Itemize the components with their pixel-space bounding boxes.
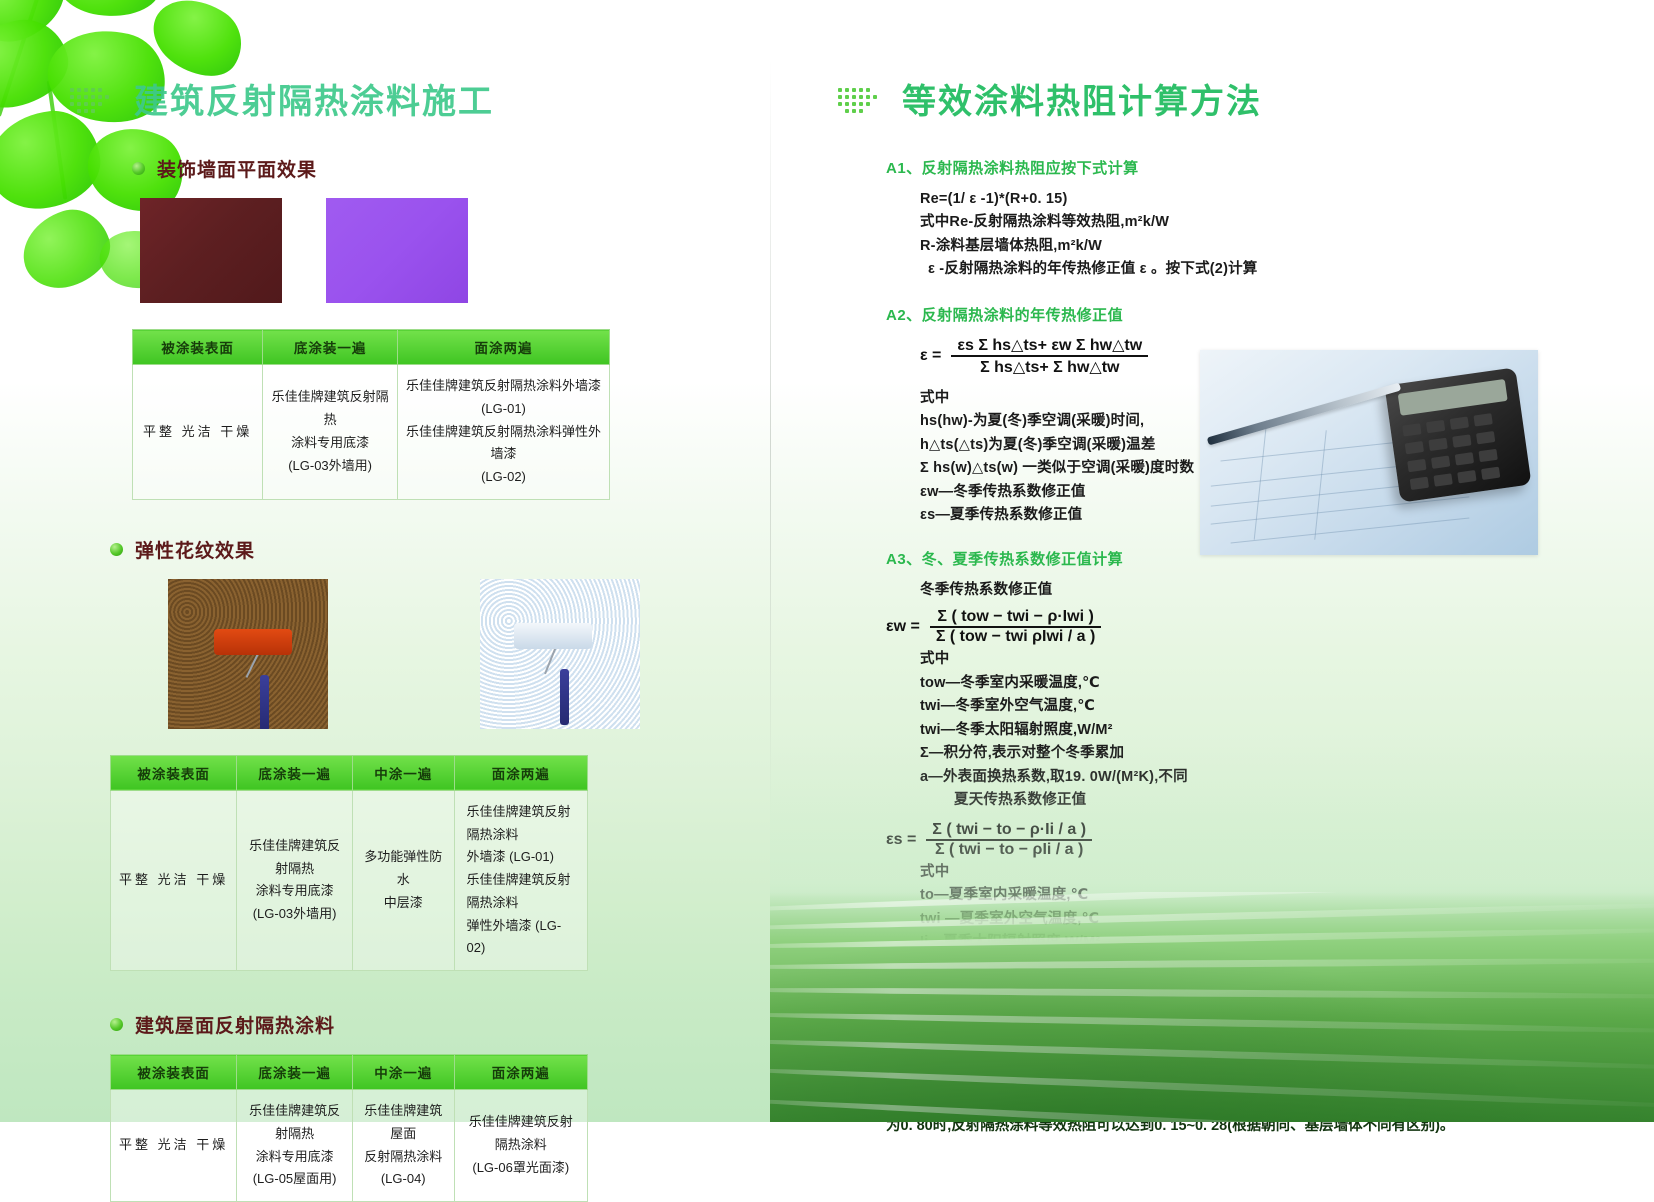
white-textured-roller-photo bbox=[480, 579, 640, 729]
topcoat-line-3: 乐佳佳牌建筑反射隔热涂料 bbox=[467, 869, 579, 915]
cell-surface: 平整 光洁 干燥 bbox=[133, 365, 263, 500]
cell-primer: 乐佳佳牌建筑反射隔热 涂料专用底漆 (LG-03外墙用) bbox=[237, 790, 353, 970]
maroon-paint-swatch bbox=[140, 198, 282, 303]
topcoat-line-1: 乐佳佳牌建筑反射隔热涂料外墙漆 bbox=[406, 375, 601, 398]
primer-line-1: 乐佳佳牌建筑反射隔热 bbox=[245, 835, 344, 881]
section1-heading: 装饰墙面平面效果 bbox=[157, 155, 317, 182]
th-surface: 被涂装表面 bbox=[111, 1055, 237, 1090]
a3-winter-label: 冬季传热系数修正值 bbox=[920, 579, 1558, 602]
section3-heading-row: 建筑屋面反射隔热涂料 bbox=[110, 1011, 730, 1038]
th-midcoat: 中涂一遍 bbox=[352, 755, 454, 790]
table-row: 平整 光洁 干燥 乐佳佳牌建筑反射隔热 涂料专用底漆 (LG-05屋面用) 乐佳… bbox=[111, 1090, 588, 1202]
topcoat-line-1: 乐佳佳牌建筑反射隔热涂料 bbox=[463, 1111, 579, 1157]
cell-topcoat: 乐佳佳牌建筑反射隔热涂料 (LG-06罩光面漆) bbox=[454, 1090, 587, 1202]
th-primer: 底涂装一遍 bbox=[237, 1055, 353, 1090]
a3-winter-numerator: Σ ( tow − twi − ρ·Iwi ) bbox=[930, 608, 1102, 626]
a2-denominator: Σ hs△ts+ Σ hw△tw bbox=[951, 355, 1148, 377]
tea-field-photo bbox=[770, 892, 1654, 1122]
cell-surface: 平整 光洁 干燥 bbox=[111, 790, 237, 970]
topcoat-line-4: 弹性外墙漆 (LG-02) bbox=[467, 915, 579, 961]
cell-topcoat: 乐佳佳牌建筑反射隔热涂料外墙漆 (LG-01) 乐佳佳牌建筑反射隔热涂料弹性外墙… bbox=[398, 365, 610, 500]
th-surface: 被涂装表面 bbox=[111, 755, 237, 790]
brochure-page: 建筑反射隔热涂料施工 装饰墙面平面效果 被涂装表面 底涂装一遍 面涂两遍 bbox=[0, 0, 1654, 1122]
a1-line-1: Re=(1/ ε -1)*(R+0. 15) bbox=[920, 188, 1558, 211]
topcoat-line-2: 外墙漆 (LG-01) bbox=[467, 846, 579, 869]
a1-line-4: ε -反射隔热涂料的年传热修正值 ε 。按下式(2)计算 bbox=[928, 258, 1558, 281]
section2-heading: 弹性花纹效果 bbox=[135, 536, 255, 563]
a2-numerator: εs Σ hs△ts+ εw Σ hw△tw bbox=[951, 335, 1148, 355]
dot-grid-icon bbox=[70, 84, 116, 114]
a3-where-label: 式中 bbox=[920, 648, 1558, 671]
section-a1: A1、反射隔热涂料热阻应按下式计算 Re=(1/ ε -1)*(R+0. 15)… bbox=[886, 157, 1558, 282]
table-header-row: 被涂装表面 底涂装一遍 中涂一遍 面涂两遍 bbox=[111, 755, 588, 790]
th-surface: 被涂装表面 bbox=[133, 330, 263, 365]
table-header-row: 被涂装表面 底涂装一遍 面涂两遍 bbox=[133, 330, 610, 365]
section-roof-coating: 建筑屋面反射隔热涂料 被涂装表面 底涂装一遍 中涂一遍 面涂两遍 平整 光洁 干… bbox=[110, 1011, 730, 1202]
pencil-icon bbox=[1207, 383, 1401, 446]
topcoat-line-1: 乐佳佳牌建筑反射隔热涂料 bbox=[467, 801, 579, 847]
primer-line-1: 乐佳佳牌建筑反射隔热 bbox=[271, 386, 389, 432]
bullet-icon bbox=[110, 1018, 123, 1031]
primer-line-3: (LG-03外墙用) bbox=[271, 455, 389, 478]
primer-line-3: (LG-05屋面用) bbox=[245, 1168, 344, 1191]
cell-primer: 乐佳佳牌建筑反射隔热 涂料专用底漆 (LG-05屋面用) bbox=[237, 1090, 353, 1202]
right-title-row: 等效涂料热阻计算方法 bbox=[838, 74, 1558, 123]
section-decorative-wall: 装饰墙面平面效果 被涂装表面 底涂装一遍 面涂两遍 平整 光洁 干燥 bbox=[132, 155, 730, 500]
spec-table-3: 被涂装表面 底涂装一遍 中涂一遍 面涂两遍 平整 光洁 干燥 乐佳佳牌建筑反射隔… bbox=[110, 1054, 588, 1202]
cell-midcoat: 多功能弹性防水 中层漆 bbox=[352, 790, 454, 970]
a1-line-2: 式中Re-反射隔热涂料等效热阻,m²k/W bbox=[920, 211, 1558, 234]
section3-heading: 建筑屋面反射隔热涂料 bbox=[135, 1011, 335, 1038]
calculator-icon bbox=[1384, 367, 1531, 502]
table-row: 平整 光洁 干燥 乐佳佳牌建筑反射隔热 涂料专用底漆 (LG-03外墙用) 多功… bbox=[111, 790, 588, 970]
midcoat-line-1: 多功能弹性防水 bbox=[361, 846, 446, 892]
th-primer: 底涂装一遍 bbox=[237, 755, 353, 790]
a2-heading: A2、反射隔热涂料的年传热修正值 bbox=[886, 304, 1558, 325]
calculator-blueprint-photo bbox=[1200, 350, 1538, 555]
midcoat-line-2: 中层漆 bbox=[361, 892, 446, 915]
a3-winter-lhs: εw = bbox=[886, 618, 920, 636]
cell-surface: 平整 光洁 干燥 bbox=[111, 1090, 237, 1202]
topcoat-line-3: 乐佳佳牌建筑反射隔热涂料弹性外墙漆 bbox=[406, 421, 601, 467]
midcoat-line-1: 乐佳佳牌建筑屋面 bbox=[361, 1100, 446, 1146]
th-midcoat: 中涂一遍 bbox=[352, 1055, 454, 1090]
primer-line-1: 乐佳佳牌建筑反射隔热 bbox=[245, 1100, 344, 1146]
primer-line-2: 涂料专用底漆 bbox=[271, 432, 389, 455]
primer-line-2: 涂料专用底漆 bbox=[245, 1146, 344, 1169]
bullet-icon bbox=[132, 162, 145, 175]
a3-winter-fraction: Σ ( tow − twi − ρ·Iwi ) Σ ( tow − twi ρI… bbox=[930, 608, 1102, 646]
a3-winter-line-1: tow—冬季室内采暖温度,℃ bbox=[920, 672, 1558, 695]
midcoat-line-3: (LG-04) bbox=[361, 1168, 446, 1191]
texture-photo-row bbox=[168, 579, 730, 729]
left-page-title: 建筑反射隔热涂料施工 bbox=[134, 74, 494, 123]
violet-paint-swatch bbox=[326, 198, 468, 303]
bullet-icon bbox=[110, 543, 123, 556]
midcoat-line-2: 反射隔热涂料 bbox=[361, 1146, 446, 1169]
a1-heading: A1、反射隔热涂料热阻应按下式计算 bbox=[886, 157, 1558, 178]
section1-heading-row: 装饰墙面平面效果 bbox=[132, 155, 730, 182]
a3-winter-line-2: twi—冬季室外空气温度,℃ bbox=[920, 695, 1558, 718]
a2-fraction: εs Σ hs△ts+ εw Σ hw△tw Σ hs△ts+ Σ hw△tw bbox=[951, 335, 1148, 377]
section-elastic-pattern: 弹性花纹效果 被涂装表面 底涂装一遍 bbox=[110, 536, 730, 971]
cell-midcoat: 乐佳佳牌建筑屋面 反射隔热涂料 (LG-04) bbox=[352, 1090, 454, 1202]
a3-winter-denominator: Σ ( tow − twi ρIwi / a ) bbox=[930, 626, 1102, 646]
a1-line-3: R-涂料基层墙体热阻,m²k/W bbox=[920, 235, 1558, 258]
section2-heading-row: 弹性花纹效果 bbox=[110, 536, 730, 563]
primer-line-3: (LG-03外墙用) bbox=[245, 903, 344, 926]
th-topcoat: 面涂两遍 bbox=[454, 755, 587, 790]
topcoat-line-2: (LG-01) bbox=[406, 398, 601, 421]
a3-winter-line-3: twi—冬季太阳辐射照度,W/M² bbox=[920, 719, 1558, 742]
a2-formula-lhs: ε = bbox=[920, 347, 941, 365]
topcoat-line-2: (LG-06罩光面漆) bbox=[463, 1157, 579, 1180]
topcoat-line-4: (LG-02) bbox=[406, 466, 601, 489]
spec-table-1: 被涂装表面 底涂装一遍 面涂两遍 平整 光洁 干燥 乐佳佳牌建筑反射隔热 涂料专… bbox=[132, 329, 610, 500]
left-column: 建筑反射隔热涂料施工 装饰墙面平面效果 被涂装表面 底涂装一遍 面涂两遍 bbox=[70, 74, 730, 1202]
primer-line-2: 涂料专用底漆 bbox=[245, 880, 344, 903]
cell-topcoat: 乐佳佳牌建筑反射隔热涂料 外墙漆 (LG-01) 乐佳佳牌建筑反射隔热涂料 弹性… bbox=[454, 790, 587, 970]
th-topcoat: 面涂两遍 bbox=[398, 330, 610, 365]
table-row: 平整 光洁 干燥 乐佳佳牌建筑反射隔热 涂料专用底漆 (LG-03外墙用) 乐佳… bbox=[133, 365, 610, 500]
spec-table-2: 被涂装表面 底涂装一遍 中涂一遍 面涂两遍 平整 光洁 干燥 乐佳佳牌建筑反射隔… bbox=[110, 755, 588, 971]
column-divider bbox=[770, 60, 771, 820]
right-page-title: 等效涂料热阻计算方法 bbox=[902, 74, 1262, 123]
table-header-row: 被涂装表面 底涂装一遍 中涂一遍 面涂两遍 bbox=[111, 1055, 588, 1090]
dot-grid-icon bbox=[838, 84, 884, 114]
cell-primer: 乐佳佳牌建筑反射隔热 涂料专用底漆 (LG-03外墙用) bbox=[263, 365, 398, 500]
brown-textured-roller-photo bbox=[168, 579, 328, 729]
left-title-row: 建筑反射隔热涂料施工 bbox=[70, 74, 730, 123]
th-topcoat: 面涂两遍 bbox=[454, 1055, 587, 1090]
a3-winter-formula: εw = Σ ( tow − twi − ρ·Iwi ) Σ ( tow − t… bbox=[886, 608, 1558, 646]
paint-swatch-row bbox=[140, 198, 730, 303]
th-primer: 底涂装一遍 bbox=[263, 330, 398, 365]
